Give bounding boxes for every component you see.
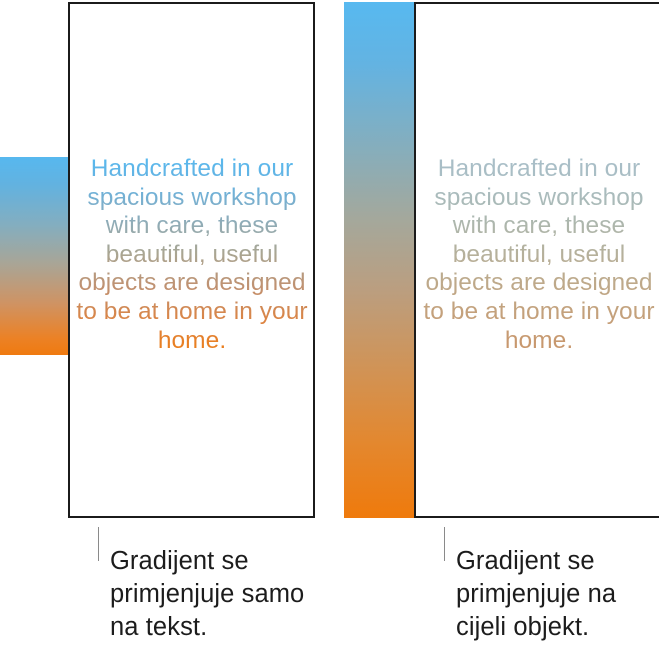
- gradient-swatch-text: [0, 157, 68, 355]
- illustration-stage: Handcrafted in our spacious workshop wit…: [0, 0, 659, 651]
- caption-object-gradient: Gradijent se primjenjuje na cijeli objek…: [456, 545, 659, 644]
- callout-leader-line-left: [98, 527, 99, 561]
- callout-leader-line-right: [444, 527, 445, 561]
- caption-text-gradient: Gradijent se primjenjuje samo na tekst.: [110, 545, 340, 644]
- sample-paragraph-text-gradient: Handcrafted in our spacious workshop wit…: [72, 155, 312, 355]
- gradient-swatch-object: [344, 2, 414, 518]
- sample-paragraph-object-gradient: Handcrafted in our spacious workshop wit…: [419, 155, 659, 355]
